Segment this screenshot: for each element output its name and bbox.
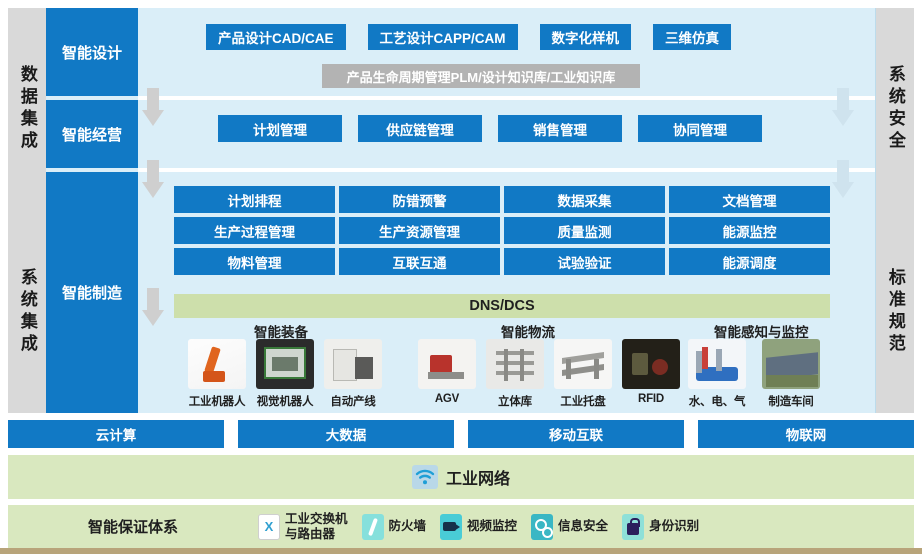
equipment-cluster-sensing: 水、电、气 制造车间 bbox=[686, 339, 822, 409]
main-panel: 智能设计 智能经营 智能制造 产品设计CAD/CAE 工艺设计CAPP/CAM … bbox=[46, 8, 876, 413]
right-rail-top-label: 系统安全 bbox=[886, 65, 904, 153]
right-rail: 系统安全 标准规范 bbox=[876, 8, 914, 413]
flow-arrow-down-left-2 bbox=[142, 160, 164, 198]
photo-item[interactable]: 水、电、气 bbox=[686, 339, 748, 409]
flow-arrow-down-left-3 bbox=[142, 288, 164, 326]
manufacturing-cell[interactable]: 生产资源管理 bbox=[339, 217, 500, 244]
manufacturing-grid: 计划排程 防错预警 数据采集 文档管理 生产过程管理 生产资源管理 质量监测 能… bbox=[174, 186, 830, 275]
tech-chip-cloud[interactable]: 云计算 bbox=[8, 420, 224, 448]
photo-caption: AGV bbox=[435, 393, 459, 405]
bottom-edge-strip bbox=[0, 548, 922, 554]
design-chip[interactable]: 数字化样机 bbox=[540, 24, 632, 50]
category-intelligent-manufacturing[interactable]: 智能制造 bbox=[46, 172, 138, 413]
photo-item[interactable]: AGV bbox=[416, 339, 478, 409]
manufacturing-cell[interactable]: 文档管理 bbox=[669, 186, 830, 213]
wifi-icon bbox=[412, 465, 438, 489]
manufacturing-cell[interactable]: 计划排程 bbox=[174, 186, 335, 213]
photo-item[interactable]: 立体库 bbox=[484, 339, 546, 409]
stereoscopic-warehouse-photo bbox=[486, 339, 544, 389]
flow-arrow-down-left-1 bbox=[142, 88, 164, 126]
dns-dcs-bar[interactable]: DNS/DCS bbox=[174, 294, 830, 318]
left-rail-top-label: 数据集成 bbox=[18, 65, 36, 153]
business-chip[interactable]: 供应链管理 bbox=[358, 115, 482, 142]
photo-caption: RFID bbox=[638, 393, 664, 405]
assurance-item-label: 视频监控 bbox=[467, 519, 517, 533]
manufacturing-cell[interactable]: 生产过程管理 bbox=[174, 217, 335, 244]
design-chip-row: 产品设计CAD/CAE 工艺设计CAPP/CAM 数字化样机 三维仿真 bbox=[206, 24, 731, 50]
group-title-intelligent-equipment: 智能装备 bbox=[254, 321, 308, 341]
photo-caption: 自动产线 bbox=[330, 393, 375, 409]
photo-item[interactable]: 制造车间 bbox=[760, 339, 822, 409]
business-chip[interactable]: 协同管理 bbox=[638, 115, 762, 142]
business-chip[interactable]: 计划管理 bbox=[218, 115, 342, 142]
band-separator-1 bbox=[138, 96, 875, 100]
assurance-item-label: 信息安全 bbox=[558, 519, 608, 533]
photo-item[interactable]: 工业机器人 bbox=[186, 339, 248, 409]
automatic-production-line-photo bbox=[324, 339, 382, 389]
group-title-intelligent-sensing: 智能感知与监控 bbox=[714, 321, 809, 341]
photo-caption: 工业托盘 bbox=[560, 393, 605, 409]
photo-item[interactable]: 工业托盘 bbox=[552, 339, 614, 409]
information-security-icon bbox=[531, 514, 553, 540]
manufacturing-workshop-photo bbox=[762, 339, 820, 389]
left-rail-bottom-label: 系统集成 bbox=[18, 268, 36, 356]
photo-item[interactable]: 自动产线 bbox=[322, 339, 384, 409]
identity-recognition-icon bbox=[622, 514, 644, 540]
assurance-item-label: 身份识别 bbox=[649, 519, 699, 533]
category-intelligent-design[interactable]: 智能设计 bbox=[46, 8, 138, 96]
photo-caption: 视觉机器人 bbox=[257, 393, 314, 409]
manufacturing-cell[interactable]: 质量监测 bbox=[504, 217, 665, 244]
firewall-icon bbox=[362, 514, 384, 540]
manufacturing-cell[interactable]: 防错预警 bbox=[339, 186, 500, 213]
assurance-item[interactable]: 工业交换机 与路由器 bbox=[258, 512, 348, 541]
design-chip[interactable]: 产品设计CAD/CAE bbox=[206, 24, 346, 50]
technology-row: 云计算 大数据 移动互联 物联网 bbox=[8, 420, 914, 448]
tech-chip-mobile[interactable]: 移动互联 bbox=[468, 420, 684, 448]
plm-knowledge-base-bar[interactable]: 产品生命周期管理PLM/设计知识库/工业知识库 bbox=[322, 64, 640, 88]
video-surveillance-icon bbox=[440, 514, 462, 540]
photo-item[interactable]: 视觉机器人 bbox=[254, 339, 316, 409]
photo-caption: 水、电、气 bbox=[689, 393, 746, 409]
agv-photo bbox=[418, 339, 476, 389]
design-chip[interactable]: 工艺设计CAPP/CAM bbox=[368, 24, 518, 50]
manufacturing-cell[interactable]: 数据采集 bbox=[504, 186, 665, 213]
tech-chip-bigdata[interactable]: 大数据 bbox=[238, 420, 454, 448]
assurance-item-label: 防火墙 bbox=[389, 519, 427, 533]
manufacturing-cell[interactable]: 能源调度 bbox=[669, 248, 830, 275]
category-intelligent-business[interactable]: 智能经营 bbox=[46, 100, 138, 168]
assurance-item[interactable]: 防火墙 bbox=[362, 514, 427, 540]
design-chip[interactable]: 三维仿真 bbox=[653, 24, 731, 50]
assurance-item[interactable]: 视频监控 bbox=[440, 514, 517, 540]
assurance-item-label: 工业交换机 与路由器 bbox=[285, 512, 348, 541]
rfid-photo bbox=[622, 339, 680, 389]
left-rail: 数据集成 系统集成 bbox=[8, 8, 46, 413]
manufacturing-cell[interactable]: 试验验证 bbox=[504, 248, 665, 275]
business-chip-row: 计划管理 供应链管理 销售管理 协同管理 bbox=[218, 115, 762, 142]
water-electricity-gas-photo bbox=[688, 339, 746, 389]
network-switch-router-icon bbox=[258, 514, 280, 540]
photo-item[interactable]: RFID bbox=[620, 339, 682, 409]
assurance-title: 智能保证体系 bbox=[8, 516, 258, 537]
industrial-network-label: 工业网络 bbox=[446, 465, 510, 489]
equipment-cluster-equipment: 工业机器人 视觉机器人 自动产线 bbox=[186, 339, 384, 409]
flow-arrow-down-right-2 bbox=[832, 160, 854, 198]
group-title-intelligent-logistics: 智能物流 bbox=[501, 321, 555, 341]
tech-chip-iot[interactable]: 物联网 bbox=[698, 420, 914, 448]
right-rail-bottom-label: 标准规范 bbox=[886, 268, 904, 356]
manufacturing-cell[interactable]: 物料管理 bbox=[174, 248, 335, 275]
assurance-item[interactable]: 身份识别 bbox=[622, 514, 699, 540]
industrial-robot-photo bbox=[188, 339, 246, 389]
architecture-diagram: 数据集成 系统集成 系统安全 标准规范 智能设计 智能经营 智能制造 产品设计C… bbox=[0, 0, 922, 554]
manufacturing-cell[interactable]: 互联互通 bbox=[339, 248, 500, 275]
vision-robot-photo bbox=[256, 339, 314, 389]
photo-caption: 立体库 bbox=[498, 393, 532, 409]
assurance-item[interactable]: 信息安全 bbox=[531, 514, 608, 540]
manufacturing-cell[interactable]: 能源监控 bbox=[669, 217, 830, 244]
industrial-network-bar[interactable]: 工业网络 bbox=[8, 455, 914, 499]
assurance-items: 工业交换机 与路由器 防火墙 视频监控 信息安全 身份识别 bbox=[258, 512, 699, 541]
band-separator-2 bbox=[138, 168, 875, 172]
industrial-pallet-photo bbox=[554, 339, 612, 389]
business-chip[interactable]: 销售管理 bbox=[498, 115, 622, 142]
photo-caption: 制造车间 bbox=[768, 393, 813, 409]
assurance-system-bar: 智能保证体系 工业交换机 与路由器 防火墙 视频监控 信息安全 身份识别 bbox=[8, 503, 914, 548]
equipment-cluster-logistics: AGV 立体库 工业托盘 RFID bbox=[416, 339, 682, 409]
photo-caption: 工业机器人 bbox=[189, 393, 246, 409]
flow-arrow-down-right-1 bbox=[832, 88, 854, 126]
